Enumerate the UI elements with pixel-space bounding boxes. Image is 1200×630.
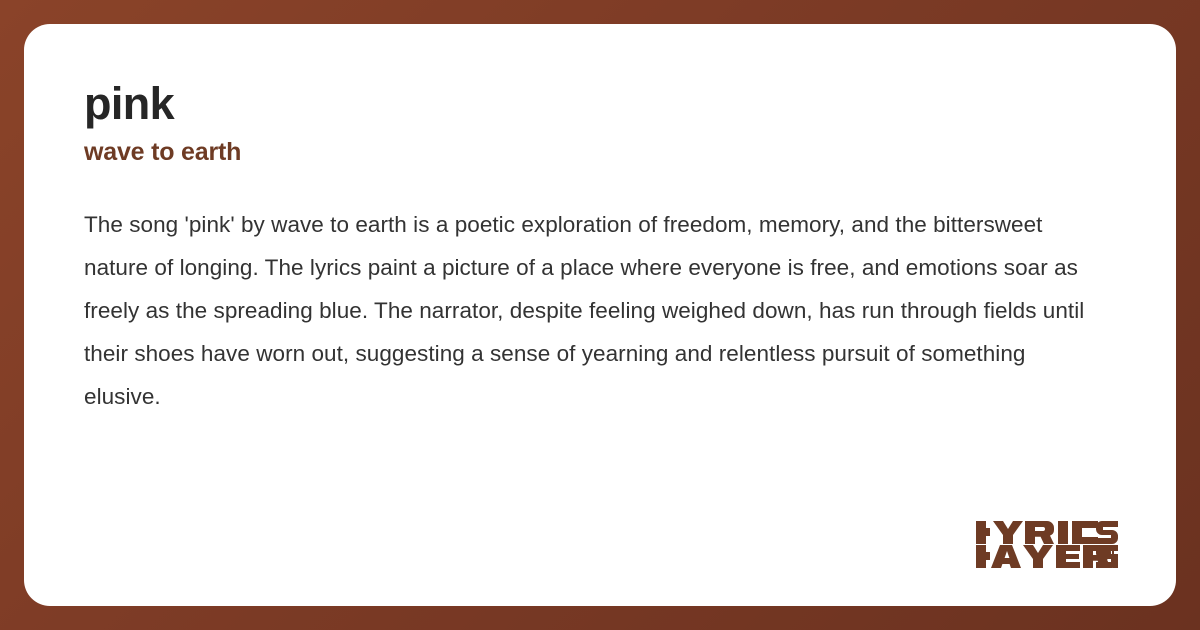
song-summary-card: pink wave to earth The song 'pink' by wa…	[24, 24, 1176, 606]
lyrics-layers-logo	[976, 521, 1118, 568]
song-summary-text: The song 'pink' by wave to earth is a po…	[84, 203, 1086, 418]
logo-wordmark-layers-icon	[976, 545, 1118, 568]
page-backdrop: pink wave to earth The song 'pink' by wa…	[0, 0, 1200, 630]
artist-name: wave to earth	[84, 139, 1116, 167]
logo-wordmark-lyrics-icon	[976, 521, 1118, 544]
page-title: pink	[84, 80, 1116, 127]
